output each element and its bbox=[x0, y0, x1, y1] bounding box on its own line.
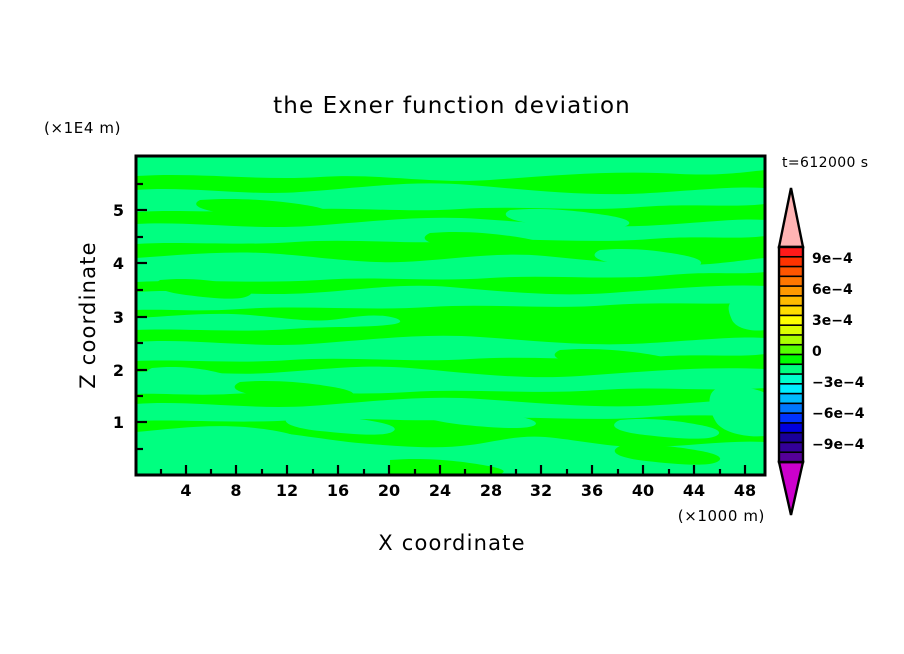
y-tick-label: 2 bbox=[113, 361, 124, 380]
colorbar-band bbox=[779, 276, 803, 286]
colorbar-band bbox=[779, 325, 803, 335]
x-tick-label: 44 bbox=[683, 481, 705, 500]
chart-title: the Exner function deviation bbox=[273, 93, 631, 119]
x-axis-title: X coordinate bbox=[378, 531, 525, 555]
colorbar-band bbox=[779, 423, 803, 433]
colorbar-label: −6e−4 bbox=[812, 406, 865, 422]
y-tick-label: 1 bbox=[113, 413, 124, 432]
y-tick-label: 3 bbox=[113, 308, 124, 327]
y-axis-title: Z coordinate bbox=[76, 241, 100, 388]
colorbar-band bbox=[779, 394, 803, 404]
colorbar-label: 3e−4 bbox=[812, 313, 853, 329]
colorbar-band bbox=[779, 403, 803, 413]
y-axis-unit-label: (×1E4 m) bbox=[44, 119, 121, 137]
colorbar-band bbox=[779, 364, 803, 374]
colorbar-label: 6e−4 bbox=[812, 282, 853, 298]
colorbar-band bbox=[779, 306, 803, 316]
y-tick-label: 5 bbox=[113, 201, 124, 220]
x-tick-label: 28 bbox=[480, 481, 502, 500]
colorbar-band bbox=[779, 286, 803, 296]
colorbar-label: −3e−4 bbox=[812, 375, 865, 391]
timestamp-label: t=612000 s bbox=[782, 155, 868, 171]
colorbar-band bbox=[779, 433, 803, 443]
colorbar-band bbox=[779, 374, 803, 384]
contour-plot-field bbox=[136, 156, 765, 475]
colorbar-band bbox=[779, 384, 803, 394]
colorbar-band bbox=[779, 315, 803, 325]
x-tick-label: 40 bbox=[632, 481, 654, 500]
colorbar-label: −9e−4 bbox=[812, 437, 865, 453]
x-tick-label: 20 bbox=[378, 481, 400, 500]
exner-function-deviation-figure: the Exner function deviation (×1E4 m) bbox=[0, 0, 904, 654]
x-tick-label: 24 bbox=[429, 481, 451, 500]
x-tick-label: 12 bbox=[276, 481, 298, 500]
x-tick-label: 8 bbox=[230, 481, 241, 500]
x-tick-label: 36 bbox=[581, 481, 603, 500]
colorbar-band bbox=[779, 296, 803, 306]
colorbar-band bbox=[779, 345, 803, 355]
x-tick-label: 48 bbox=[734, 481, 756, 500]
colorbar-band bbox=[779, 247, 803, 257]
x-axis-unit-label: (×1000 m) bbox=[678, 507, 765, 525]
x-tick-label: 16 bbox=[327, 481, 349, 500]
x-tick-label: 4 bbox=[180, 481, 191, 500]
colorbar-band bbox=[779, 267, 803, 277]
colorbar-bands bbox=[779, 247, 803, 462]
x-tick-label: 32 bbox=[530, 481, 552, 500]
colorbar-band bbox=[779, 413, 803, 423]
colorbar-band bbox=[779, 257, 803, 267]
colorbar-label: 9e−4 bbox=[812, 251, 853, 267]
colorbar-label: 0 bbox=[812, 344, 822, 360]
colorbar-band bbox=[779, 355, 803, 365]
colorbar-band bbox=[779, 442, 803, 452]
y-tick-label: 4 bbox=[113, 254, 124, 273]
colorbar-band bbox=[779, 335, 803, 345]
